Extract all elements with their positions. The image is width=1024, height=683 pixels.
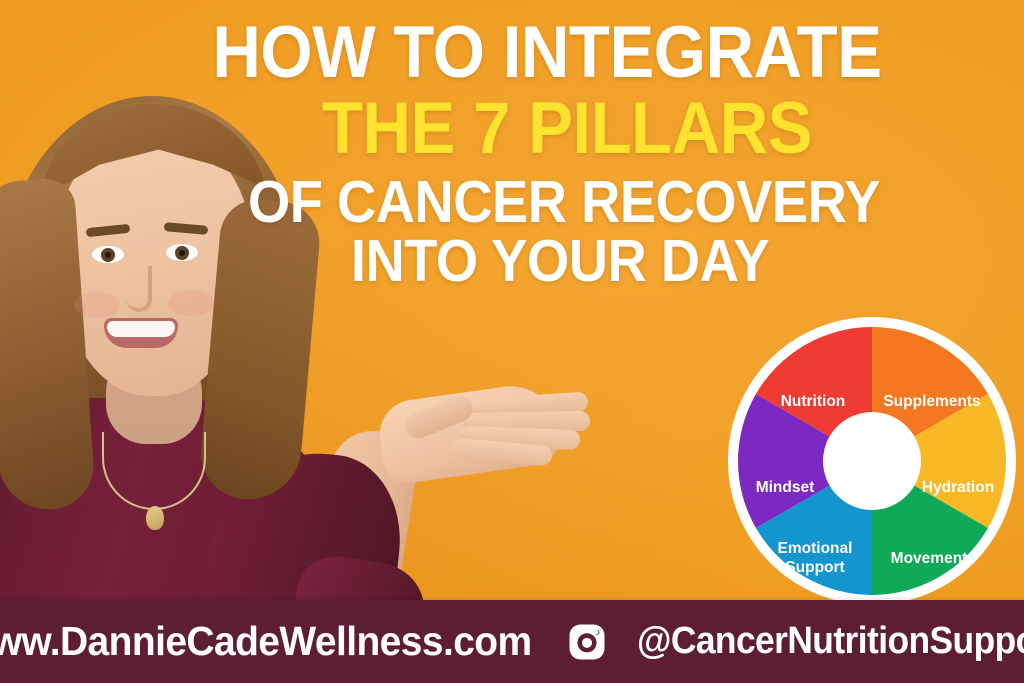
headline-line-1: HOW TO INTEGRATE	[108, 18, 986, 88]
thumbnail-canvas: HOW TO INTEGRATE THE 7 PILLARS OF CANCER…	[0, 0, 1024, 683]
wheel-hub	[823, 412, 921, 510]
headline-block: HOW TO INTEGRATE THE 7 PILLARS OF CANCER…	[0, 18, 1024, 289]
footer-bar: www.DannieCadeWellness.com @CancerNutrit…	[0, 600, 1024, 683]
pillars-wheel: Nutrition Supplements Hydration Movement…	[727, 316, 1017, 606]
smile-mouth	[104, 318, 178, 348]
headline-line-3: OF CANCER RECOVERY	[141, 174, 987, 231]
pillars-wheel-svg: Nutrition Supplements Hydration Movement…	[727, 316, 1017, 606]
wheel-label-supplements: Supplements	[883, 393, 980, 410]
face	[56, 128, 252, 396]
nose	[126, 266, 152, 312]
hair-front	[40, 104, 268, 256]
svg-text:Emotional: Emotional	[778, 540, 853, 557]
svg-text:Support: Support	[785, 559, 844, 576]
eyebrow-right	[164, 222, 209, 235]
website-url[interactable]: www.DannieCadeWellness.com	[0, 618, 532, 665]
cheek-right	[168, 290, 214, 316]
eyebrow-left	[86, 224, 131, 238]
instagram-handle[interactable]: @CancerNutritionSupport	[637, 620, 1024, 663]
hair-back	[2, 96, 302, 476]
headline-line-4: INTO YOUR DAY	[133, 233, 987, 290]
hair-strand-right	[197, 196, 323, 504]
wheel-label-mindset: Mindset	[756, 479, 815, 496]
eye-left	[92, 246, 124, 263]
wheel-label-hydration: Hydration	[922, 479, 994, 496]
wheel-label-movement: Movement	[891, 550, 968, 567]
eye-right	[166, 244, 198, 261]
neck	[106, 352, 202, 444]
necklace-chain	[102, 432, 206, 510]
cheek-left	[74, 292, 120, 318]
headline-line-2-accent: THE 7 PILLARS	[147, 94, 988, 164]
instagram-icon[interactable]	[567, 622, 607, 662]
hair-strand-left	[0, 177, 96, 513]
necklace-pendant	[146, 506, 164, 530]
wheel-label-nutrition: Nutrition	[781, 393, 846, 410]
